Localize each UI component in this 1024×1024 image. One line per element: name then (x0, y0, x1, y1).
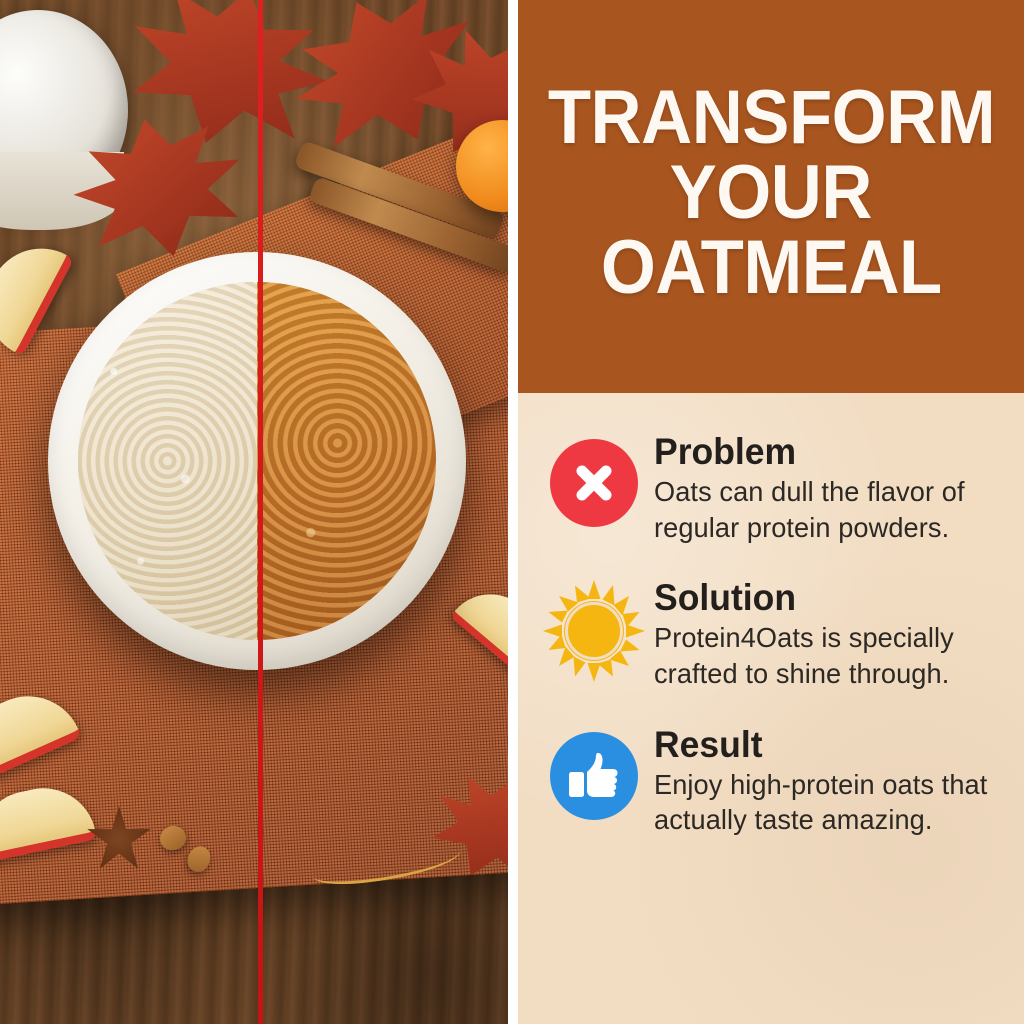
poster: TRANSFORM YOUR OATMEAL (0, 0, 1024, 1024)
list-item-result: Result Enjoy high-protein oats that actu… (540, 726, 998, 838)
spiced-oatmeal-half (257, 282, 436, 640)
product-photo (0, 0, 508, 1024)
bowl-contents (78, 282, 436, 640)
result-text: Result Enjoy high-protein oats that actu… (648, 726, 998, 838)
result-description: Enjoy high-protein oats that actually ta… (654, 767, 988, 839)
thumbs-up-circle-icon (550, 732, 638, 820)
result-heading: Result (654, 726, 984, 764)
solution-icon-wrap (540, 579, 648, 683)
problem-icon-wrap (540, 433, 648, 527)
x-circle-icon (550, 439, 638, 527)
solution-text: Solution Protein4Oats is specially craft… (648, 579, 998, 691)
oatmeal-bowl (48, 252, 466, 670)
headline-line-3: OATMEAL (601, 230, 942, 305)
plain-oatmeal-half (78, 282, 257, 640)
solution-heading: Solution (654, 579, 984, 617)
headline-line-1: TRANSFORM (547, 80, 994, 155)
panel-divider (508, 0, 518, 1024)
header-band: TRANSFORM YOUR OATMEAL (518, 0, 1024, 393)
problem-heading: Problem (654, 433, 984, 471)
list-item-solution: Solution Protein4Oats is specially craft… (540, 579, 998, 691)
split-divider-line (258, 0, 263, 1024)
solution-description: Protein4Oats is specially crafted to shi… (654, 620, 988, 692)
result-icon-wrap (540, 726, 648, 820)
problem-description: Oats can dull the flavor of regular prot… (654, 474, 988, 546)
headline-line-2: YOUR (670, 155, 872, 230)
benefits-list: Problem Oats can dull the flavor of regu… (518, 393, 1024, 1024)
list-item-problem: Problem Oats can dull the flavor of regu… (540, 433, 998, 545)
info-panel: TRANSFORM YOUR OATMEAL (518, 0, 1024, 1024)
sun-icon (542, 579, 646, 683)
problem-text: Problem Oats can dull the flavor of regu… (648, 433, 998, 545)
